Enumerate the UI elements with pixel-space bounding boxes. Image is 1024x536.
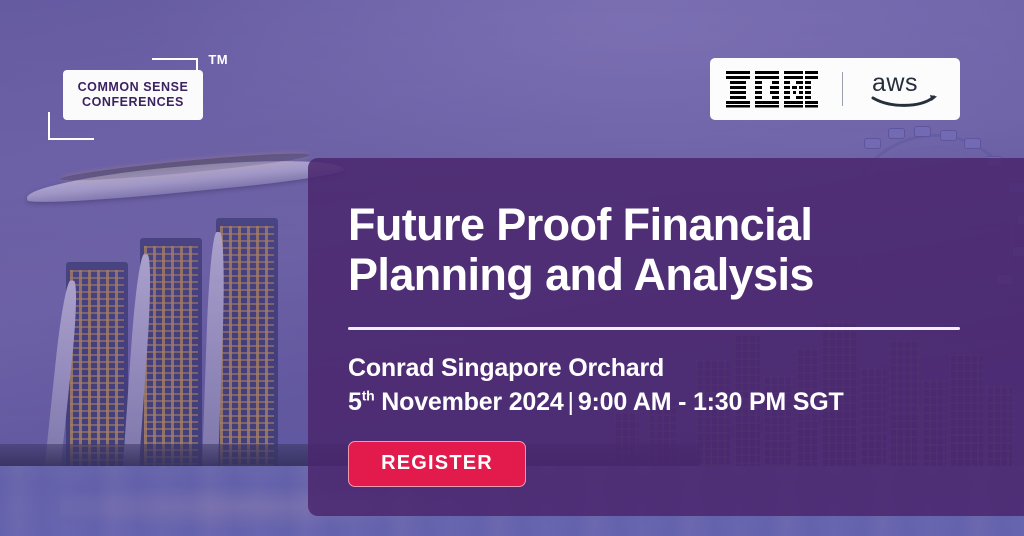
event-time: 9:00 AM - 1:30 PM SGT <box>578 388 844 416</box>
headline-divider <box>348 327 960 330</box>
event-details-panel: Future Proof Financial Planning and Anal… <box>308 158 1024 516</box>
event-date-rest: November 2024 <box>381 388 563 416</box>
register-button[interactable]: REGISTER <box>348 441 526 487</box>
datetime-separator: | <box>568 386 574 419</box>
logo-line-1: COMMON SENSE <box>78 80 189 95</box>
svg-text:aws: aws <box>872 69 918 97</box>
logo-line-2: CONFERENCES <box>82 95 184 110</box>
event-headline: Future Proof Financial Planning and Anal… <box>348 200 984 301</box>
event-venue: Conrad Singapore Orchard <box>348 352 984 385</box>
ibm-logo <box>722 70 822 108</box>
event-date-ordinal: th <box>362 388 375 404</box>
partner-logos-card: aws <box>710 58 960 120</box>
headline-line-1: Future Proof Financial <box>348 199 812 250</box>
event-date-day: 5 <box>348 388 362 416</box>
common-sense-conferences-logo[interactable]: TM COMMON SENSE CONFERENCES <box>48 48 228 140</box>
event-banner: TM COMMON SENSE CONFERENCES <box>0 0 1024 536</box>
event-datetime: 5th November 2024|9:00 AM - 1:30 PM SGT <box>348 386 984 419</box>
trademark-symbol: TM <box>208 52 228 67</box>
logo-plate: COMMON SENSE CONFERENCES <box>63 70 203 120</box>
headline-line-2: Planning and Analysis <box>348 250 984 300</box>
partner-divider <box>842 72 843 106</box>
aws-logo: aws <box>863 69 949 109</box>
